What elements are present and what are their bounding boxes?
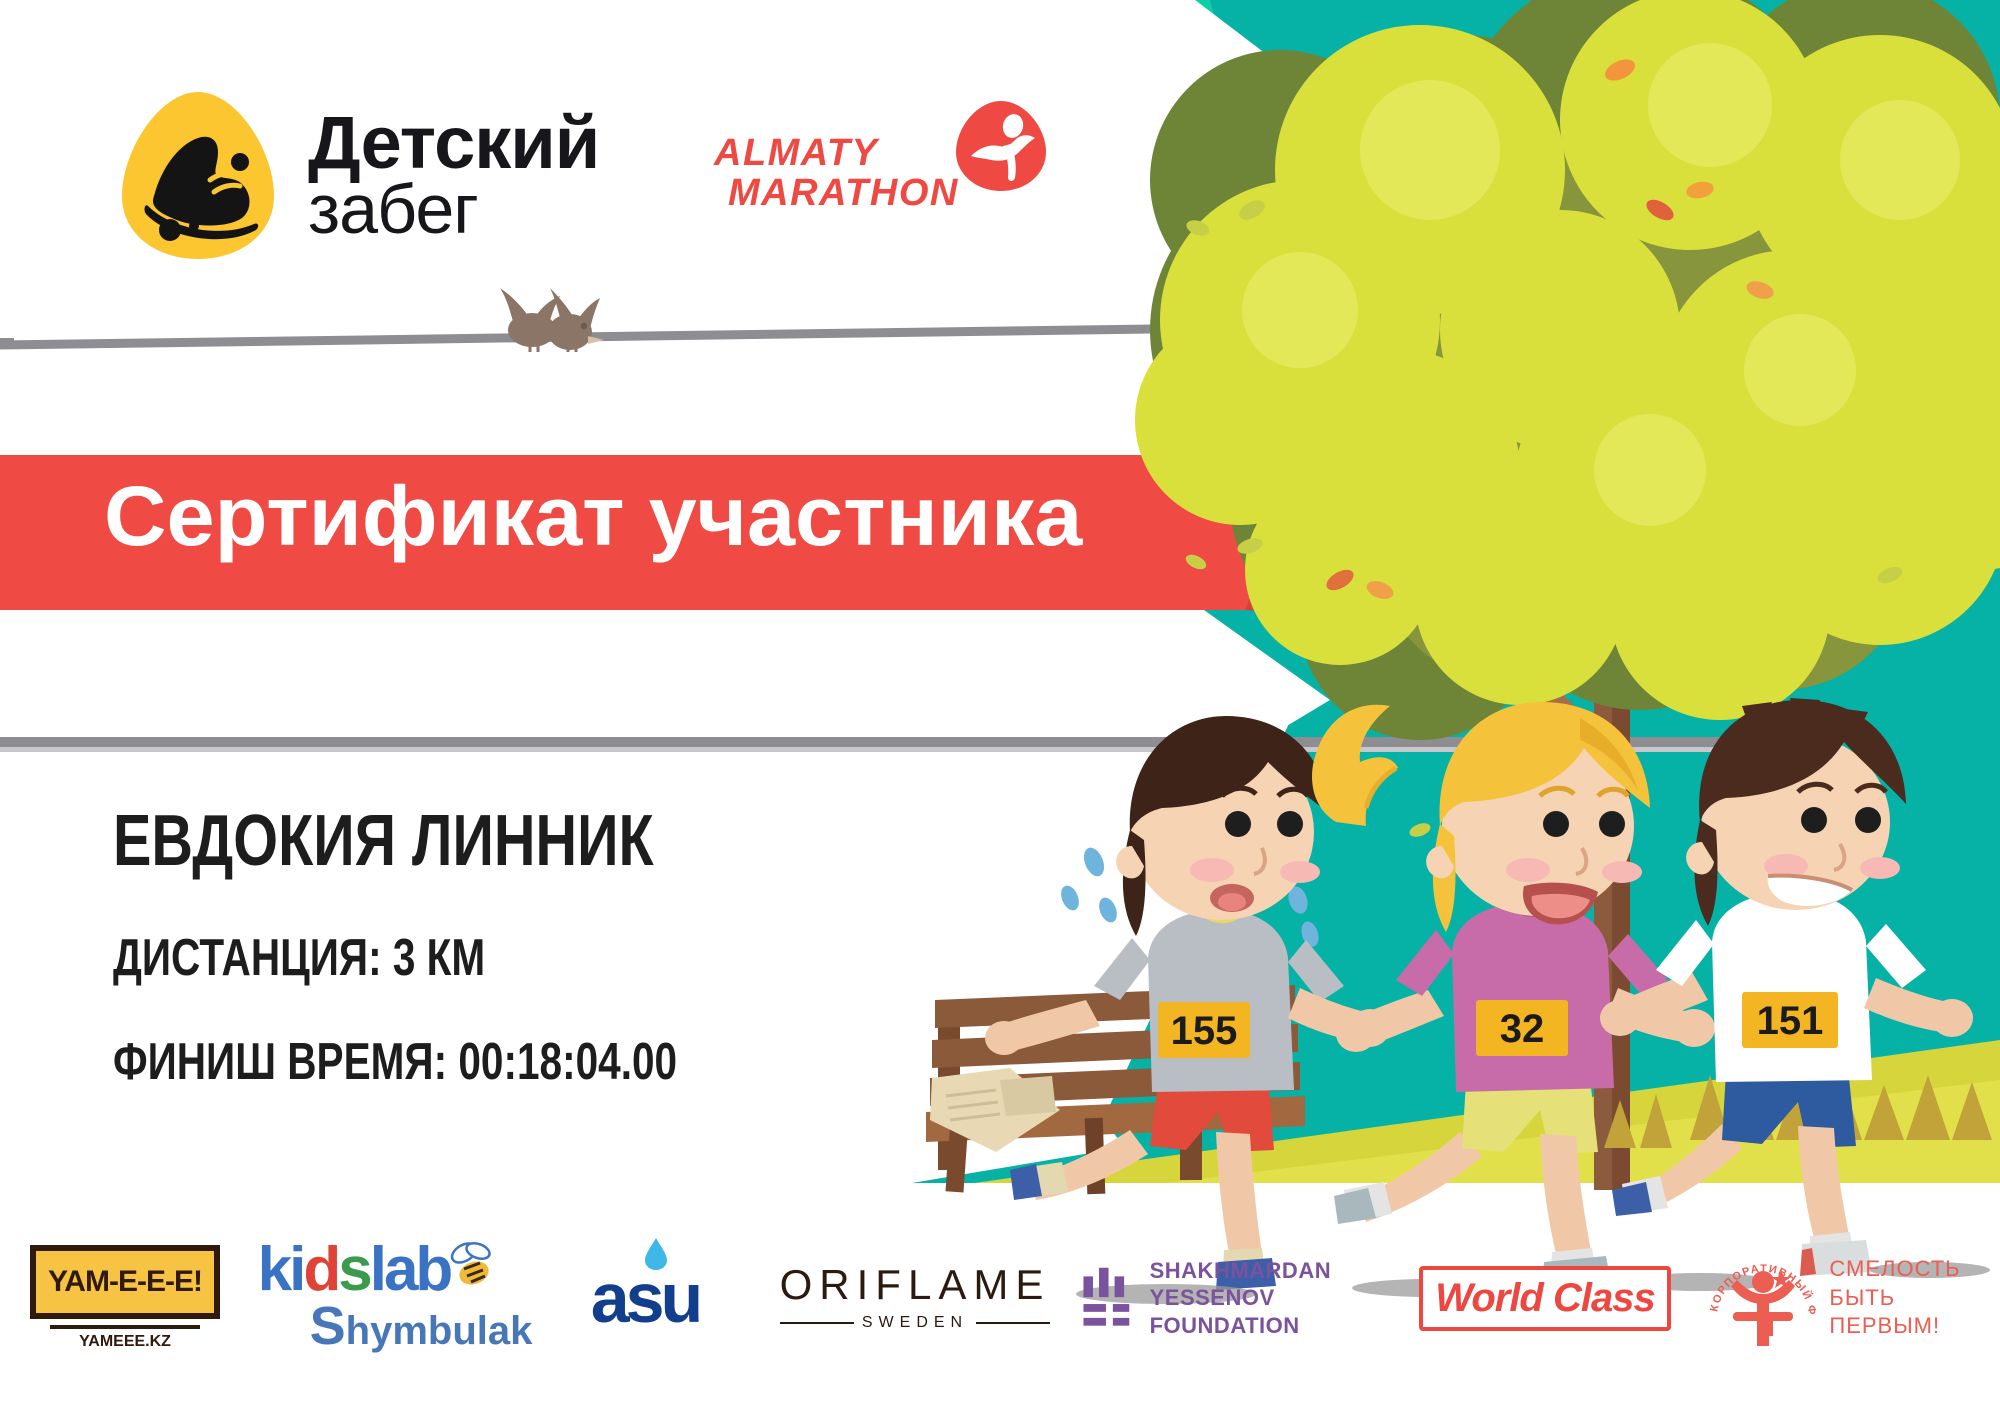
yam-rule	[50, 1325, 200, 1329]
sponsor-yameee: YAM-E-E-E! YAMEEE.KZ	[0, 1243, 250, 1353]
kids-d: d	[303, 1239, 338, 1301]
participant-name: ЕВДОКИЯ ЛИННИК	[113, 800, 692, 882]
shymbulak-rest: hymbulak	[346, 1309, 533, 1353]
almaty-marathon-wordmark: ALMATY MARATHON	[714, 112, 959, 213]
bee-icon	[446, 1239, 498, 1291]
oriflame-wordmark: ORIFLAME	[780, 1264, 1051, 1306]
shymbulak-S: S	[310, 1296, 346, 1356]
asu-wordmark: asu	[591, 1263, 700, 1333]
sponsor-strip: YAM-E-E-E! YAMEEE.KZ k i d s l a b	[0, 1238, 2000, 1358]
yam-site: YAMEEE.KZ	[30, 1333, 220, 1351]
smelost-line-2: БЫТЬ	[1829, 1284, 1960, 1313]
candy-bar-icon: YAM-E-E-E!	[30, 1245, 220, 1319]
sponsor-oriflame: ORIFLAME SWEDEN	[750, 1243, 1080, 1353]
worldclass-wordmark: World Class	[1419, 1266, 1670, 1331]
kids-k: k	[258, 1239, 289, 1301]
almaty-marathon-logo: ALMATY MARATHON	[714, 112, 1049, 213]
runner-silhouette-icon	[953, 98, 1049, 194]
kids-b: b	[415, 1239, 450, 1301]
brand-lockup: Детский забег	[118, 88, 599, 263]
smelost-line-3: ПЕРВЫМ!	[1829, 1312, 1960, 1341]
svg-text:151: 151	[1757, 999, 1824, 1043]
sponsor-kidslab: k i d s l a b Shymbulak	[250, 1243, 540, 1353]
sponsor-yessenov-foundation: SHAKHMARDAN YESSENOV FOUNDATION	[1080, 1243, 1420, 1353]
ori-sweden-label: SWEDEN	[862, 1314, 968, 1332]
runner-three: 151	[1600, 698, 1973, 1276]
kidslab-wordmark: k i d s l a b	[258, 1239, 533, 1301]
raised-arms-figure-icon: КОРПОРАТИВНЫЙ ФОНД	[1709, 1246, 1817, 1350]
participant-details: ЕВДОКИЯ ЛИННИК ДИСТАНЦИЯ: 3 КМ ФИНИШ ВРЕ…	[113, 800, 836, 1136]
water-drop-icon	[643, 1237, 669, 1271]
finish-time-row: ФИНИШ ВРЕМЯ: 00:18:04.00	[113, 1032, 677, 1092]
bars-grid-icon	[1080, 1261, 1134, 1335]
brand-line-1: Детский	[308, 109, 599, 177]
sponsor-world-class: World Class	[1420, 1243, 1670, 1353]
kids-l: l	[370, 1239, 384, 1301]
am-line-1: ALMATY	[714, 134, 959, 174]
yessenov-line-1: SHAKHMARDAN YESSENOV	[1150, 1257, 1420, 1312]
sponsor-asu: asu	[540, 1243, 750, 1353]
ori-rule-left	[780, 1322, 854, 1324]
certificate-page: 155	[0, 0, 2000, 1413]
kids-i: i	[289, 1239, 303, 1301]
sponsor-smelost-byt-pervym: КОРПОРАТИВНЫЙ ФОНД СМЕЛОСТЬ БЫТЬ ПЕРВЫМ!	[1670, 1243, 2000, 1353]
distance-row: ДИСТАНЦИЯ: 3 КМ	[113, 928, 677, 988]
am-line-2: MARATHON	[728, 174, 959, 214]
kids-a: a	[384, 1239, 415, 1301]
svg-text:32: 32	[1500, 1007, 1545, 1051]
brand-wordmark: Детский забег	[308, 109, 599, 241]
brand-line-2: забег	[308, 177, 599, 241]
yessenov-line-2: FOUNDATION	[1150, 1312, 1420, 1340]
yam-label: YAM-E-E-E!	[48, 1265, 202, 1299]
smelost-line-1: СМЕЛОСТЬ	[1829, 1255, 1960, 1284]
oriflame-sweden: SWEDEN	[780, 1314, 1051, 1332]
running-shoe-icon	[118, 88, 278, 263]
page-title: Сертификат участника	[104, 468, 1082, 565]
ori-rule-right	[976, 1322, 1050, 1324]
kidslab-shymbulak: Shymbulak	[310, 1295, 533, 1357]
kids-s: s	[338, 1239, 369, 1301]
svg-text:155: 155	[1171, 1009, 1238, 1053]
